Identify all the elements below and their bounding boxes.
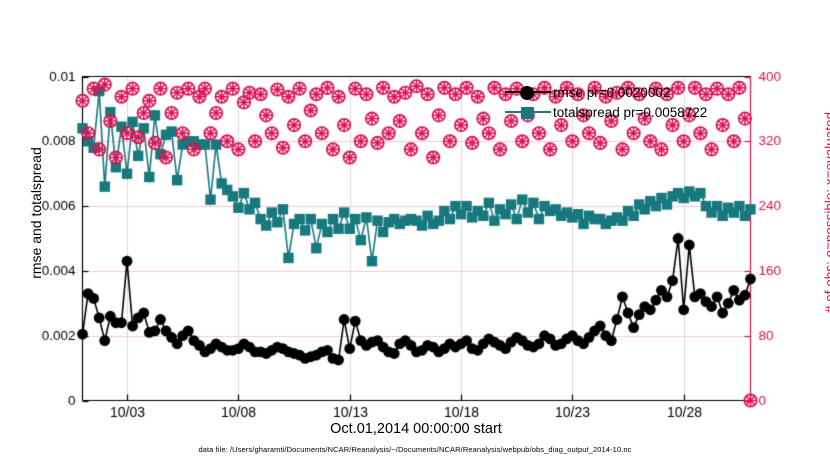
legend-symbol-totalspread [505,103,551,121]
chart-figure: Southern Hemisphere AIRS_SPECIFIC_HUMIDI… [0,0,830,470]
legend-label-totalspread: totalspread pr=0.0058722 [551,105,707,120]
legend-symbol-rmse [505,83,551,101]
legend-label-rmse: rmse pr=0.0020002 [551,85,670,100]
y-axis-left-label: rmse and totalspread [28,93,44,333]
data-file-caption: data file: /Users/gharamti/Documents/NCA… [0,445,830,454]
legend-item-rmse: rmse pr=0.0020002 [505,82,707,102]
circle-marker-icon [520,86,534,100]
chart-legend: rmse pr=0.0020002 totalspread pr=0.00587… [505,82,707,122]
legend-item-totalspread: totalspread pr=0.0058722 [505,102,707,122]
x-axis-label: Oct.01,2014 00:00:00 start [82,421,750,437]
square-marker-icon [521,107,534,119]
y-axis-right-label: # of obs: o=possible; x=evaluated [823,83,830,343]
plot-area [0,0,830,470]
